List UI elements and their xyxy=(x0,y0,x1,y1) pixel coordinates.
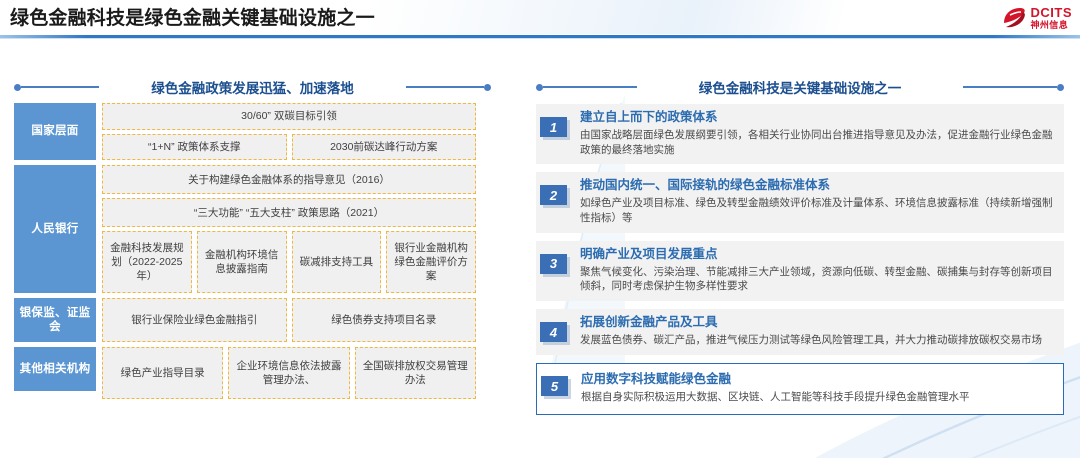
key-point-title: 明确产业及项目发展重点 xyxy=(580,247,1054,263)
key-point-item[interactable]: 3明确产业及项目发展重点聚焦气候变化、污染治理、节能减排三大产业领域，资源向低碳… xyxy=(536,241,1064,301)
matrix-cell: “1+N” 政策体系支撑 xyxy=(102,134,287,161)
slide-canvas: 绿色金融科技是绿色金融关键基础设施之一 DCITS 神州信息 绿色金融政策发展迅… xyxy=(0,0,1080,458)
key-point-description: 发展蓝色债券、碳汇产品，推进气候压力测试等绿色风险管理工具，并大力推动碳排放碳权… xyxy=(580,333,1054,348)
key-point-number-badge: 1 xyxy=(540,117,567,137)
key-point-description: 聚焦气候变化、污染治理、节能减排三大产业领域，资源向低碳、转型金融、碳捕集与封存… xyxy=(580,265,1054,295)
heading-rule-right xyxy=(406,86,484,88)
brand-logo: DCITS 神州信息 xyxy=(1001,4,1073,32)
left-panel-heading-label: 绿色金融政策发展迅猛、加速落地 xyxy=(145,77,360,97)
key-point-title: 推动国内统一、国际接轨的绿色金融标准体系 xyxy=(580,178,1054,194)
key-point-description: 如绿色产业及项目标准、绿色及转型金融绩效评价标准及计量体系、环境信息披露标准（持… xyxy=(580,196,1054,226)
slide-header: 绿色金融科技是绿色金融关键基础设施之一 DCITS 神州信息 xyxy=(0,0,1080,40)
logo-text-en: DCITS xyxy=(1031,6,1073,19)
heading-dot-right-icon xyxy=(484,84,491,91)
matrix-cell: “三大功能” “五大支柱” 政策思路（2021） xyxy=(102,198,476,227)
matrix-cell: 企业环境信息依法披露管理办法、 xyxy=(228,347,349,399)
header-divider-thin xyxy=(0,38,1080,39)
matrix-cell: 全国碳排放权交易管理办法 xyxy=(355,347,476,399)
matrix-line: “三大功能” “五大支柱” 政策思路（2021） xyxy=(102,198,476,227)
matrix-row-label: 其他相关机构 xyxy=(14,347,96,391)
heading-dot-right-icon xyxy=(1057,84,1064,91)
right-panel-heading: 绿色金融科技是关键基础设施之一 xyxy=(536,78,1064,96)
key-point-title: 应用数字科技赋能绿色金融 xyxy=(581,372,1053,388)
matrix-cell: 2030前碳达峰行动方案 xyxy=(292,134,477,161)
matrix-row: 国家层面30/60” 双碳目标引领“1+N” 政策体系支撑2030前碳达峰行动方… xyxy=(14,103,476,160)
heading-rule-left xyxy=(21,86,99,88)
heading-rule-right xyxy=(963,86,1057,88)
matrix-cell: 银行业保险业绿色金融指引 xyxy=(102,298,287,342)
right-panel-heading-label: 绿色金融科技是关键基础设施之一 xyxy=(693,77,908,97)
matrix-line: 银行业保险业绿色金融指引绿色债券支持项目名录 xyxy=(102,298,476,342)
matrix-cell: 绿色债券支持项目名录 xyxy=(292,298,477,342)
key-point-number-badge: 4 xyxy=(540,322,567,342)
key-point-number-badge: 2 xyxy=(540,185,567,205)
matrix-line: 绿色产业指导目录企业环境信息依法披露管理办法、全国碳排放权交易管理办法 xyxy=(102,347,476,399)
key-point-title: 建立自上而下的政策体系 xyxy=(580,110,1054,126)
heading-dot-left-icon xyxy=(536,84,543,91)
logo-text-cn: 神州信息 xyxy=(1031,21,1073,30)
key-point-item[interactable]: 1建立自上而下的政策体系由国家战略层面绿色发展纲要引领，各相关行业协同出台推进指… xyxy=(536,104,1064,164)
matrix-cell: 银行业金融机构绿色金融评价方案 xyxy=(386,231,476,293)
matrix-row-label: 国家层面 xyxy=(14,103,96,160)
key-point-description: 根据自身实际积极运用大数据、区块链、人工智能等科技手段提升绿色金融管理水平 xyxy=(581,390,1053,405)
matrix-cell: 30/60” 双碳目标引领 xyxy=(102,103,476,130)
logo-wordmark: DCITS 神州信息 xyxy=(1031,6,1073,30)
matrix-row-label: 人民银行 xyxy=(14,165,96,293)
matrix-line: 金融科技发展规划（2022-2025年）金融机构环境信息披露指南碳减排支持工具银… xyxy=(102,231,476,293)
matrix-cell: 绿色产业指导目录 xyxy=(102,347,223,399)
key-point-description: 由国家战略层面绿色发展纲要引领，各相关行业协同出台推进指导意见及办法，促进金融行… xyxy=(580,128,1054,158)
matrix-cell: 关于构建绿色金融体系的指导意见（2016） xyxy=(102,165,476,194)
policy-matrix: 国家层面30/60” 双碳目标引领“1+N” 政策体系支撑2030前碳达峰行动方… xyxy=(14,103,476,391)
matrix-row-content: 绿色产业指导目录企业环境信息依法披露管理办法、全国碳排放权交易管理办法 xyxy=(102,347,476,391)
matrix-line: 关于构建绿色金融体系的指导意见（2016） xyxy=(102,165,476,194)
matrix-cell: 碳减排支持工具 xyxy=(292,231,382,293)
heading-rule-left xyxy=(543,86,637,88)
page-title: 绿色金融科技是绿色金融关键基础设施之一 xyxy=(10,3,375,30)
matrix-cell: 金融机构环境信息披露指南 xyxy=(197,231,287,293)
matrix-row-content: 银行业保险业绿色金融指引绿色债券支持项目名录 xyxy=(102,298,476,342)
matrix-cell: 金融科技发展规划（2022-2025年） xyxy=(102,231,192,293)
matrix-row: 银保监、证监会银行业保险业绿色金融指引绿色债券支持项目名录 xyxy=(14,298,476,342)
matrix-row-label: 银保监、证监会 xyxy=(14,298,96,342)
key-point-number-badge: 5 xyxy=(541,376,568,396)
dcits-logo-icon xyxy=(1001,6,1027,30)
key-point-title: 拓展创新金融产品及工具 xyxy=(580,315,1054,331)
key-point-number-badge: 3 xyxy=(540,254,567,274)
matrix-row-content: 30/60” 双碳目标引领“1+N” 政策体系支撑2030前碳达峰行动方案 xyxy=(102,103,476,160)
heading-dot-left-icon xyxy=(14,84,21,91)
key-point-item[interactable]: 2推动国内统一、国际接轨的绿色金融标准体系如绿色产业及项目标准、绿色及转型金融绩… xyxy=(536,172,1064,232)
left-panel-heading: 绿色金融政策发展迅猛、加速落地 xyxy=(14,78,491,96)
matrix-row: 人民银行关于构建绿色金融体系的指导意见（2016）“三大功能” “五大支柱” 政… xyxy=(14,165,476,293)
matrix-row: 其他相关机构绿色产业指导目录企业环境信息依法披露管理办法、全国碳排放权交易管理办… xyxy=(14,347,476,391)
key-point-item[interactable]: 4拓展创新金融产品及工具发展蓝色债券、碳汇产品，推进气候压力测试等绿色风险管理工… xyxy=(536,309,1064,355)
key-point-item[interactable]: 5应用数字科技赋能绿色金融根据自身实际积极运用大数据、区块链、人工智能等科技手段… xyxy=(536,363,1064,415)
matrix-row-content: 关于构建绿色金融体系的指导意见（2016）“三大功能” “五大支柱” 政策思路（… xyxy=(102,165,476,293)
matrix-line: “1+N” 政策体系支撑2030前碳达峰行动方案 xyxy=(102,134,476,161)
matrix-line: 30/60” 双碳目标引领 xyxy=(102,103,476,130)
key-points-list: 1建立自上而下的政策体系由国家战略层面绿色发展纲要引领，各相关行业协同出台推进指… xyxy=(536,104,1064,415)
